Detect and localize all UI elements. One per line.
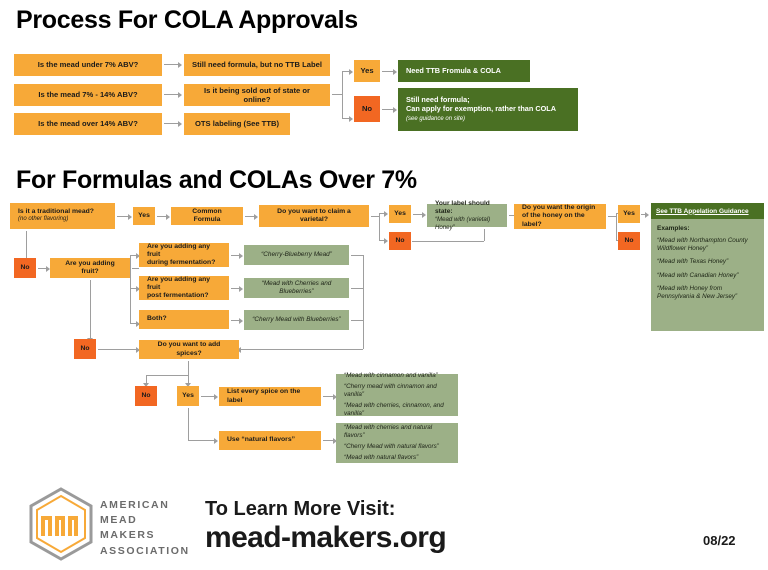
- appellation-guidance-link[interactable]: See TTB Appelation Guidance: [656, 208, 749, 215]
- example-item: “Mead with Canadian Honey”: [657, 272, 758, 280]
- org-line-mead: MEAD: [100, 513, 190, 528]
- node-honey-origin[interactable]: Do you want the origin of the honey on t…: [514, 204, 606, 229]
- node-fruit-both[interactable]: Both?: [139, 310, 229, 329]
- exemption-line2: Can apply for exemption, rather than COL…: [406, 105, 556, 114]
- fruit-post-line2: post fermentation?: [147, 292, 209, 300]
- node-list-every-spice[interactable]: List every spice on the label: [219, 387, 321, 406]
- natural-example-item: “Mead with cherries and natural flavors”: [344, 424, 450, 440]
- node-use-natural-flavors[interactable]: Use “natural flavors”: [219, 431, 321, 450]
- example-item: “Mead with Texas Honey”: [657, 258, 758, 266]
- arrowhead-split-no: [349, 116, 353, 122]
- natural-example-item: “Cherry Mead with natural flavors”: [344, 443, 439, 451]
- arrowhead-originyes-panel: [645, 212, 649, 218]
- amma-hexagon-logo-icon: [26, 486, 96, 562]
- arrowhead-both-result: [239, 318, 243, 324]
- node-ots-labeling[interactable]: OTS labeling (See TTB): [184, 113, 290, 135]
- pill-no-spices[interactable]: No: [135, 386, 157, 406]
- exemption-note: (see guidance on site): [406, 116, 465, 124]
- arrowhead-trad-yes: [128, 214, 132, 220]
- section1-title: Process For COLA Approvals: [16, 6, 358, 35]
- connector-yes-natural-down: [188, 408, 189, 440]
- connector-abv2: [164, 94, 178, 95]
- node-label-should-state[interactable]: Your label should state: “Mead with (var…: [427, 204, 507, 227]
- label-state-line1: Your label should state:: [435, 200, 499, 216]
- arrowhead-abv2: [178, 92, 182, 98]
- arrowhead-no-result: [393, 107, 397, 113]
- arrowhead-during-result: [239, 253, 243, 259]
- connector-yesspices-list: [201, 396, 214, 397]
- fruit-during-line2: during fermentation?: [147, 259, 215, 267]
- examples-label: Examples:: [657, 225, 758, 232]
- website-url[interactable]: mead-makers.org: [205, 521, 446, 555]
- honey-origin-line1: Do you want the origin: [522, 204, 595, 212]
- node-need-ttb-formula-cola[interactable]: Need TTB Fromula & COLA: [398, 60, 530, 82]
- connector-varietalyes-label: [413, 214, 422, 215]
- arrowhead-yes-commonformula: [166, 214, 170, 220]
- connector-varietal-stem: [371, 216, 379, 217]
- arrowhead-yesspices-list: [214, 394, 218, 400]
- connector-merge3: [351, 320, 363, 321]
- arrowhead-yes-result: [393, 69, 397, 75]
- connector-natural-examples: [323, 440, 333, 441]
- node-claim-varietal[interactable]: Do you want to claim a varietal?: [259, 205, 369, 227]
- node-abv-7-to-14[interactable]: Is the mead 7% - 14% ABV?: [14, 84, 162, 106]
- node-result-cherry-mead-blueberries[interactable]: “Cherry Mead with Blueberries”: [244, 310, 349, 330]
- org-line-american: AMERICAN: [100, 498, 190, 513]
- node-result-cherry-blueberry-mead[interactable]: “Cherry-Blueberry Mead”: [244, 245, 349, 265]
- arrowhead-commonformula-varietal: [254, 214, 258, 220]
- connector-fruit-spine: [130, 255, 131, 323]
- pill-no-origin[interactable]: No: [618, 232, 640, 250]
- arrowhead-varietal-yes: [384, 211, 388, 217]
- example-item: “Mead with Northampton County Wildflower…: [657, 237, 758, 253]
- node-sold-out-of-state[interactable]: Is it being sold out of state or online?: [184, 84, 330, 106]
- connector-merge-spine: [363, 255, 364, 349]
- connector-origin-stem: [608, 216, 616, 217]
- connector-varietal-spine: [379, 213, 380, 240]
- pill-yes-origin[interactable]: Yes: [618, 205, 640, 223]
- connector-yes-result: [382, 71, 393, 72]
- connector-origin-spine: [616, 213, 617, 240]
- node-abv-under-7[interactable]: Is the mead under 7% ABV?: [14, 54, 162, 76]
- spice-example-item: “Mead with cherries, cinnamon, and vanil…: [344, 402, 450, 418]
- connector-yes-natural-right: [188, 440, 214, 441]
- connector-abv3: [164, 123, 178, 124]
- arrowhead-varietalyes-label: [422, 212, 426, 218]
- connector-split-spine: [342, 71, 343, 118]
- connector-post-result: [231, 288, 239, 289]
- connector-fruitno-down: [90, 280, 91, 342]
- arrowhead-post-result: [239, 286, 243, 292]
- connector-merge2: [351, 288, 363, 289]
- connector-fruit-stem: [132, 268, 139, 269]
- learn-more-text: To Learn More Visit:: [205, 498, 395, 521]
- node-fruit-post-fermentation[interactable]: Are you adding any fruit post fermentati…: [139, 276, 229, 300]
- arrowhead-yes-natural: [214, 438, 218, 444]
- appellation-examples-body: Examples: “Mead with Northampton County …: [651, 219, 764, 301]
- connector-varietalno-up: [484, 229, 485, 241]
- traditional-mead-note: (no other flavoring): [18, 216, 68, 224]
- org-line-association: ASSOCIATION: [100, 544, 190, 559]
- footer: AMERICAN MEAD MAKERS ASSOCIATION To Lear…: [0, 478, 768, 570]
- node-adding-fruit[interactable]: Are you adding fruit?: [50, 258, 130, 278]
- node-result-mead-cherries-blueberries[interactable]: “Mead with Cherries and Blueberries”: [244, 278, 349, 298]
- node-fruit-during-fermentation[interactable]: Are you adding any fruit during fermenta…: [139, 243, 229, 267]
- connector-abv1: [164, 64, 178, 65]
- arrowhead-split-yes: [349, 69, 353, 75]
- org-line-makers: MAKERS: [100, 528, 190, 543]
- connector-no-addingfruit: [38, 268, 46, 269]
- connector-commonformula-varietal: [245, 216, 254, 217]
- arrowhead-varietal-no: [384, 238, 388, 244]
- spice-example-item: “Mead with cinnamon and vanilla”: [344, 372, 438, 380]
- natural-example-item: “Mead with natural flavors”: [344, 454, 418, 462]
- amma-logo: [26, 486, 96, 562]
- appellation-guidance-header[interactable]: See TTB Appelation Guidance: [651, 203, 764, 219]
- pill-yes-traditional[interactable]: Yes: [133, 207, 155, 225]
- connector-split-stem: [332, 94, 342, 95]
- pill-no-varietal[interactable]: No: [389, 232, 411, 250]
- arrowhead-abv3: [178, 121, 182, 127]
- date-stamp: 08/22: [703, 533, 736, 548]
- connector-varietalno-run: [412, 241, 484, 242]
- node-still-need-formula-no-ttb[interactable]: Still need formula, but no TTB Label: [184, 54, 330, 76]
- appellation-examples-panel[interactable]: See TTB Appelation Guidance Examples: “M…: [651, 203, 764, 331]
- fruit-during-line1: Are you adding any fruit: [147, 243, 221, 260]
- connector-merge1: [351, 255, 363, 256]
- connector-both-result: [231, 320, 239, 321]
- connector-during-result: [231, 255, 239, 256]
- node-natural-flavor-examples[interactable]: “Mead with cherries and natural flavors”…: [336, 423, 458, 463]
- connector-trad-yes: [117, 216, 128, 217]
- slide-canvas: Process For COLA Approvals Is the mead u…: [0, 0, 768, 570]
- label-state-line2: “Mead with (varietal) Honey”: [435, 216, 499, 231]
- connector-no-result: [382, 109, 393, 110]
- pill-yes-section1[interactable]: Yes: [354, 60, 380, 82]
- section2-title: For Formulas and COLAs Over 7%: [16, 166, 417, 195]
- fruit-post-line1: Are you adding any fruit: [147, 276, 221, 293]
- honey-origin-line2: of the honey on the label?: [522, 212, 598, 229]
- node-common-formula[interactable]: Common Formula: [171, 207, 243, 225]
- amma-org-name: AMERICAN MEAD MAKERS ASSOCIATION: [100, 498, 190, 559]
- traditional-mead-question: Is it a traditional mead?: [18, 208, 94, 216]
- node-exemption-result[interactable]: Still need formula; Can apply for exempt…: [398, 88, 578, 131]
- connector-yes-commonformula: [157, 216, 166, 217]
- connector-nofruit-spices: [98, 349, 136, 350]
- connector-merge-to-spices: [241, 349, 363, 350]
- pill-no-section1[interactable]: No: [354, 96, 380, 122]
- spice-example-item: “Cherry mead with cinnamon and vanilla”: [344, 383, 450, 399]
- pill-yes-varietal[interactable]: Yes: [389, 205, 411, 223]
- node-abv-over-14[interactable]: Is the mead over 14% ABV?: [14, 113, 162, 135]
- connector-split-no: [342, 118, 349, 119]
- node-spice-examples[interactable]: “Mead with cinnamon and vanilla” “Cherry…: [336, 374, 458, 416]
- connector-list-examples: [323, 396, 333, 397]
- example-item: “Mead with Honey from Pennsylvania & New…: [657, 285, 758, 301]
- node-add-spices[interactable]: Do you want to add spices?: [139, 340, 239, 359]
- node-traditional-mead[interactable]: Is it a traditional mead? (no other flav…: [10, 203, 115, 229]
- pill-yes-spices[interactable]: Yes: [177, 386, 199, 406]
- connector-spices-stem: [188, 361, 189, 375]
- pill-no-traditional[interactable]: No: [14, 258, 36, 278]
- connector-spices-spine: [146, 375, 188, 376]
- arrowhead-abv1: [178, 62, 182, 68]
- connector-split-yes: [342, 71, 349, 72]
- pill-no-fruit[interactable]: No: [74, 339, 96, 359]
